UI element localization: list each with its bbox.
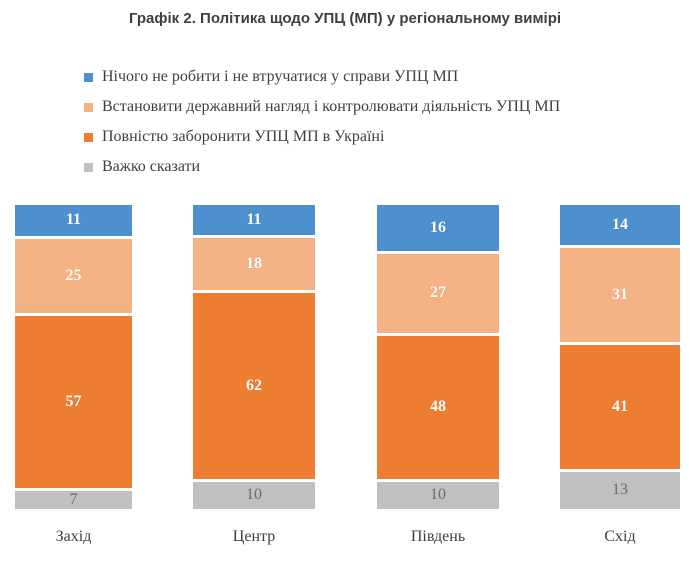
bar-segment-value: 48 [430,399,446,415]
legend-item-1[interactable]: Встановити державний нагляд і контролюва… [84,92,684,122]
bar-column: 14314113 [560,205,680,512]
legend-swatch-icon [84,163,93,172]
bar-segment-value: 31 [612,287,628,303]
bar-segment-value: 11 [66,212,81,228]
bar-segment[interactable]: 10 [193,482,315,509]
bar-segment[interactable]: 57 [15,316,132,488]
bar-segment[interactable]: 7 [15,491,132,509]
bar-segment[interactable]: 14 [560,205,680,245]
bar-segment-value: 7 [70,492,78,508]
legend-item-0[interactable]: Нічого не робити і не втручатися у справ… [84,62,684,92]
bar-column: 11186210 [193,205,315,512]
chart-title: Графік 2. Політика щодо УПЦ (МП) у регіо… [0,10,690,27]
legend-item-label: Важко сказати [102,159,200,175]
bar-segment-value: 10 [430,487,446,503]
bar-segment[interactable]: 16 [377,205,499,251]
bar-segment-value: 13 [612,482,628,498]
bar-segment[interactable]: 48 [377,336,499,479]
bar-segment[interactable]: 10 [377,482,499,509]
bar-segment[interactable]: 62 [193,293,315,478]
bar-segment-value: 10 [246,487,262,503]
bar-segment[interactable]: 25 [15,239,132,313]
category-label-3: Схід [560,528,680,546]
bar-segment-value: 62 [246,378,262,394]
bar-segment-value: 41 [612,399,628,415]
bar-segment-value: 25 [66,268,82,284]
bar-segment[interactable]: 18 [193,238,315,290]
chart-legend: Нічого не робити і не втручатися у справ… [84,62,684,182]
bar-column: 1125577 [15,205,132,512]
bar-segment[interactable]: 13 [560,472,680,509]
legend-item-label: Повністю заборонити УПЦ МП в Україні [102,129,384,145]
legend-swatch-icon [84,133,93,142]
legend-item-label: Встановити державний нагляд і контролюва… [102,99,560,115]
bar-segment-value: 57 [66,394,82,410]
category-axis: ЗахідЦентрПівденьСхід [0,528,690,558]
legend-item-2[interactable]: Повністю заборонити УПЦ МП в Україні [84,122,684,152]
legend-item-label: Нічого не робити і не втручатися у справ… [102,69,458,85]
category-label-2: Південь [377,528,499,546]
legend-swatch-icon [84,73,93,82]
bar-segment[interactable]: 11 [193,205,315,235]
bar-segment-value: 18 [246,256,262,272]
category-label-1: Центр [193,528,315,546]
bar-segment[interactable]: 31 [560,248,680,341]
bar-column: 16274810 [377,205,499,512]
bar-segment[interactable]: 11 [15,205,132,236]
bar-segment-value: 27 [430,285,446,301]
bar-segment[interactable]: 27 [377,254,499,333]
legend-swatch-icon [84,103,93,112]
bar-segment-value: 14 [612,217,628,233]
bar-segment-value: 16 [430,220,446,236]
legend-item-3[interactable]: Важко сказати [84,152,684,182]
category-label-0: Захід [15,528,132,546]
bar-segment-value: 11 [246,212,261,228]
bar-segment[interactable]: 41 [560,345,680,469]
plot-area: 1125577111862101627481014314113 [0,205,690,512]
